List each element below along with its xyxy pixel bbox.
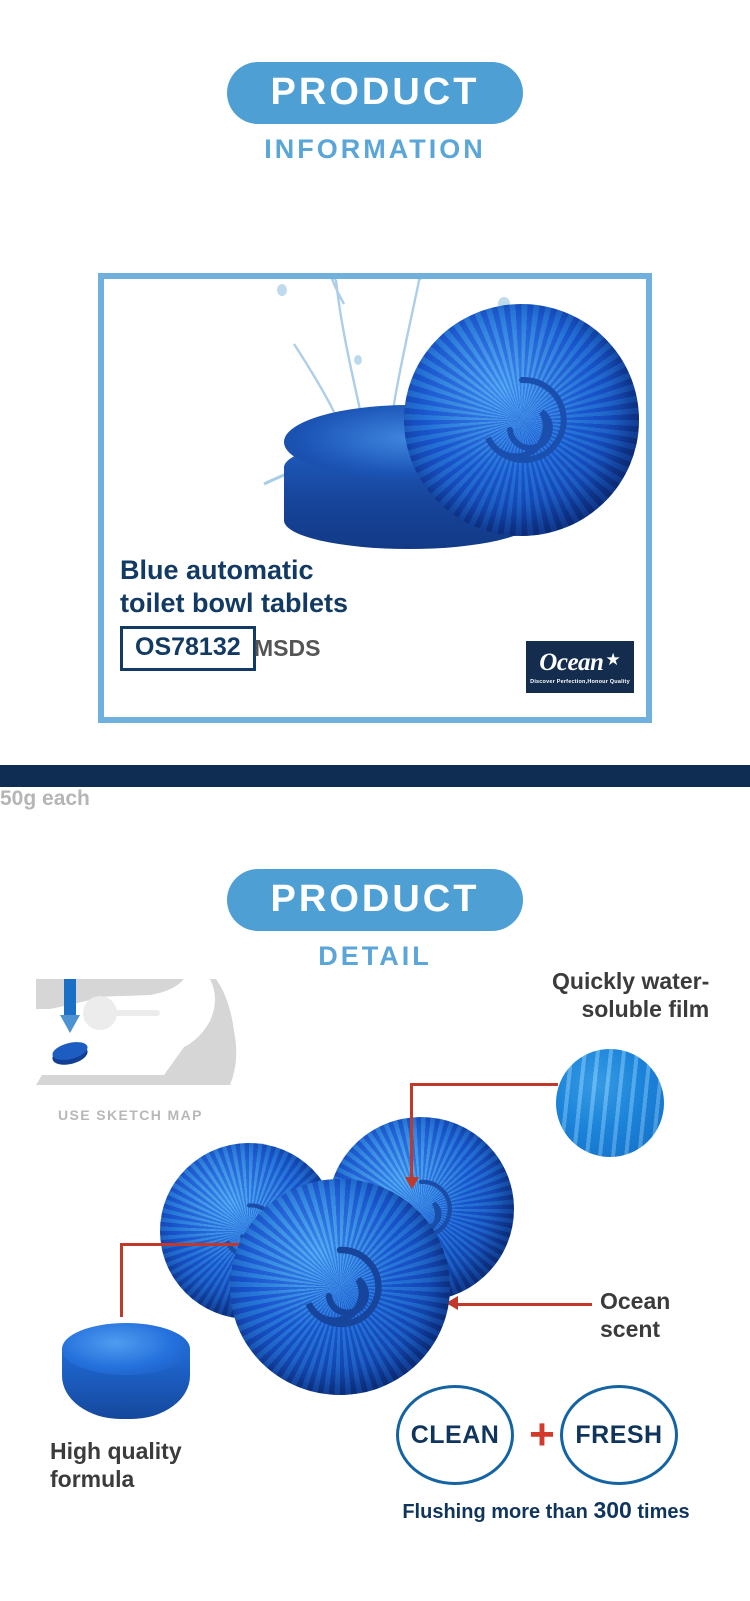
flushing-prefix: Flushing more than <box>402 1501 593 1523</box>
product-sku-box: OS78132 <box>120 626 256 671</box>
single-tablet-photo <box>62 1323 190 1419</box>
film-closeup-inset <box>556 1049 664 1157</box>
product-tablet-top <box>404 304 639 536</box>
product-photo: Blue automatic toilet bowl tablets OS781… <box>104 279 646 717</box>
badge-fresh: FRESH <box>560 1385 678 1485</box>
product-page: PRODUCT INFORMATION <box>0 0 750 1601</box>
detail-header: PRODUCT DETAIL <box>0 869 750 972</box>
toilet-sketch-icon <box>34 965 246 1097</box>
star-icon: ★ <box>605 650 620 670</box>
benefit-badges: CLEAN + FRESH <box>396 1385 696 1487</box>
tablet-cluster <box>150 1107 510 1407</box>
ocean-brand-name: Ocean <box>539 650 603 675</box>
msds-label: MSDS <box>254 635 320 662</box>
leader-line-formula-vertical <box>120 1243 123 1317</box>
information-pill-label: PRODUCT <box>227 62 524 124</box>
section-product-detail: PRODUCT DETAIL USE SKETCH MAP <box>0 787 750 1601</box>
tablet-swirl-icon <box>470 368 574 472</box>
callout-high-quality-formula: High quality formula <box>50 1437 182 1493</box>
leader-line-scent <box>452 1303 592 1306</box>
flushing-claim: Flushing more than 300 times <box>396 1497 696 1524</box>
callout-soluble-film: Quickly water- soluble film <box>552 967 709 1023</box>
tablet-front <box>230 1179 450 1395</box>
badge-clean: CLEAN <box>396 1385 514 1485</box>
tablet-top-face <box>62 1323 190 1375</box>
product-photo-frame: Blue automatic toilet bowl tablets OS781… <box>98 273 652 723</box>
callout-ocean-scent: Ocean scent <box>600 1287 670 1343</box>
ocean-brand-tagline: Discover Perfection,Honour Quality <box>530 679 630 685</box>
ocean-brand-logo: Ocean ★ Discover Perfection,Honour Quali… <box>526 641 634 693</box>
flushing-suffix: times <box>632 1501 690 1523</box>
callout-film-line1: Quickly water- <box>552 967 709 995</box>
product-title: Blue automatic toilet bowl tablets <box>120 554 348 620</box>
callout-formula-line2: formula <box>50 1465 182 1493</box>
callout-scent-line2: scent <box>600 1315 670 1343</box>
leader-line-film-horizontal <box>410 1083 558 1086</box>
flushing-count: 300 <box>593 1497 631 1523</box>
callout-formula-line1: High quality <box>50 1437 182 1465</box>
detail-pill-label: PRODUCT <box>227 869 524 931</box>
product-title-line2: toilet bowl tablets <box>120 587 348 620</box>
product-title-line1: Blue automatic <box>120 554 348 587</box>
film-texture <box>556 1049 664 1157</box>
section-product-information: PRODUCT INFORMATION <box>0 0 750 765</box>
tablet-swirl-icon <box>292 1239 388 1335</box>
callout-film-line2: soluble film <box>552 995 709 1023</box>
information-sub-label: INFORMATION <box>0 134 750 165</box>
leader-arrow-film <box>405 1177 419 1189</box>
callout-scent-line1: Ocean <box>600 1287 670 1315</box>
plus-icon: + <box>524 1413 560 1457</box>
callout-weight: 50g each <box>0 787 750 811</box>
leader-line-film-vertical <box>410 1083 413 1181</box>
section-divider <box>0 765 750 787</box>
information-header: PRODUCT INFORMATION <box>0 62 750 165</box>
